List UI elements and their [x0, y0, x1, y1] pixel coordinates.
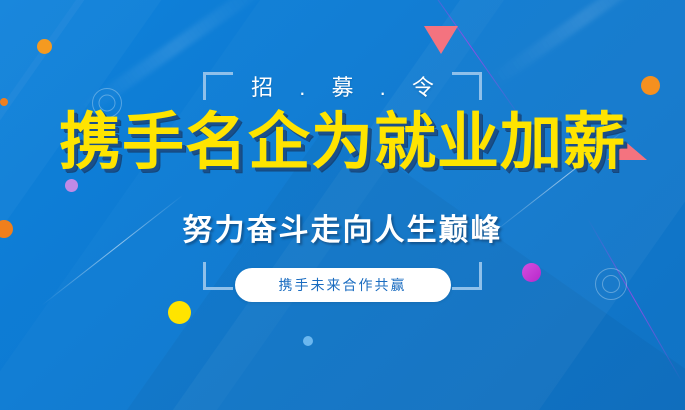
- orange-dot-top-left: [37, 39, 52, 54]
- recruitment-banner: 招 . 募 . 令 携手名企为就业加薪 努力奋斗走向人生巅峰 携手未来合作共赢: [0, 0, 685, 410]
- bracket-bottom-left: [203, 262, 233, 290]
- ring-group-bottom-right: [595, 268, 627, 300]
- yellow-dot-lower-left: [168, 301, 191, 324]
- lightblue-dot-bottom: [303, 336, 313, 346]
- headline-text: 携手名企为就业加薪: [0, 112, 685, 174]
- ring-inner-icon: [602, 275, 620, 293]
- purple-dot-left: [65, 179, 78, 192]
- pink-triangle-down-icon: [424, 26, 458, 54]
- eyebrow-text: 招 . 募 . 令: [0, 70, 685, 102]
- magenta-dot-right: [522, 263, 541, 282]
- cta-pill-button[interactable]: 携手未来合作共赢: [235, 268, 451, 302]
- bracket-bottom-right: [452, 262, 482, 290]
- subline-text: 努力奋斗走向人生巅峰: [0, 205, 685, 249]
